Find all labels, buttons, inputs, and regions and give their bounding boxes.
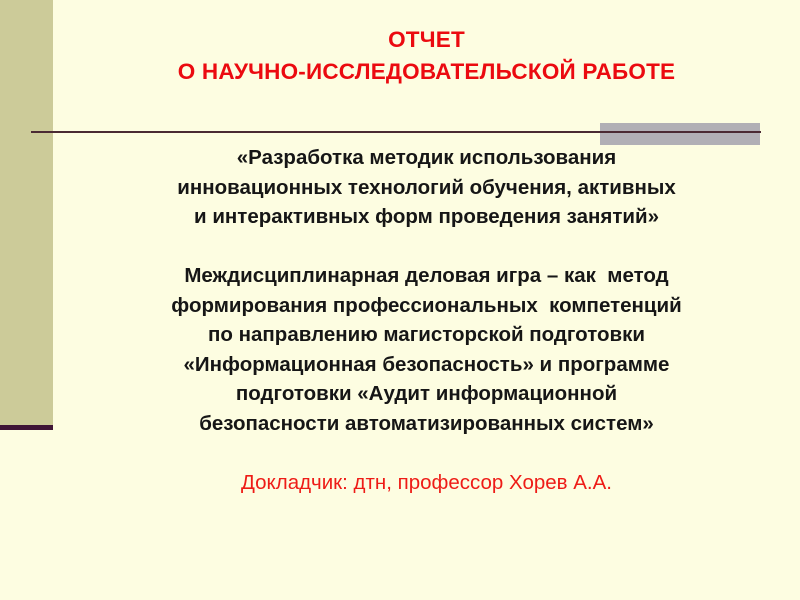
body-paragraph-1: «Разработка методик использования иннова… <box>53 143 800 232</box>
paragraph-2-line-3: по направлению магисторской подготовки <box>53 320 800 350</box>
paragraph-2-line-1: Междисциплинарная деловая игра – как мет… <box>53 261 800 291</box>
page-title: ОТЧЕТ О НАУЧНО-ИССЛЕДОВАТЕЛЬСКОЙ РАБОТЕ <box>53 24 800 88</box>
paragraph-2-line-5: подготовки «Аудит информационной <box>53 379 800 409</box>
left-strip-underline <box>0 425 53 430</box>
title-divider-line <box>31 131 761 133</box>
slide-body: «Разработка методик использования иннова… <box>53 143 800 497</box>
body-paragraph-2: Междисциплинарная деловая игра – как мет… <box>53 261 800 438</box>
slide-canvas: ОТЧЕТ О НАУЧНО-ИССЛЕДОВАТЕЛЬСКОЙ РАБОТЕ … <box>0 0 800 600</box>
presenter-text: Докладчик: дтн, профессор Хорев А.А. <box>53 468 800 498</box>
title-rule-grey-block <box>600 123 760 145</box>
presenter-line: Докладчик: дтн, профессор Хорев А.А. <box>53 468 800 498</box>
paragraph-1-line-1: «Разработка методик использования <box>53 143 800 173</box>
paragraph-2-line-4: «Информационная безопасность» и программ… <box>53 350 800 380</box>
title-line-1: ОТЧЕТ <box>53 24 800 56</box>
paragraph-1-line-2: инновационных технологий обучения, актив… <box>53 173 800 203</box>
title-line-2: О НАУЧНО-ИССЛЕДОВАТЕЛЬСКОЙ РАБОТЕ <box>53 56 800 88</box>
left-decorative-strip <box>0 0 53 425</box>
paragraph-2-line-6: безопасности автоматизированных систем» <box>53 409 800 439</box>
paragraph-1-line-3: и интерактивных форм проведения занятий» <box>53 202 800 232</box>
paragraph-2-line-2: формирования профессиональных компетенци… <box>53 291 800 321</box>
